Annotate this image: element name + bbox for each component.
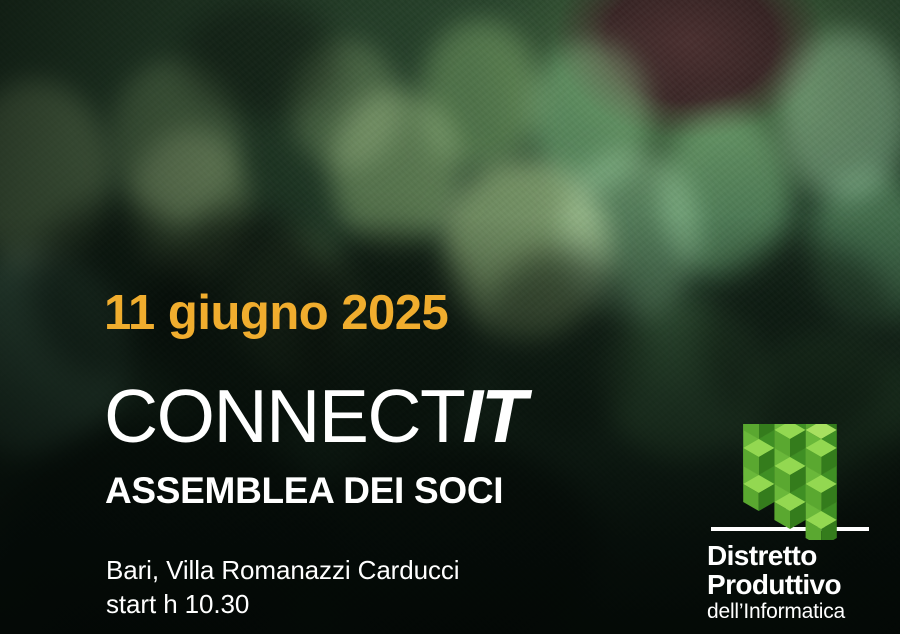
logo-wordmark: Distretto Produttivo dell’Informatica: [707, 542, 845, 623]
headline-it: IT: [462, 374, 525, 458]
event-poster: 11 giugno 2025 CONNECTIT ASSEMBLEA DEI S…: [0, 0, 900, 634]
organization-logo: Distretto Produttivo dell’Informatica: [697, 424, 883, 626]
venue-location: Bari, Villa Romanazzi Carducci: [106, 554, 459, 588]
headline-connect: CONNECT: [104, 374, 464, 458]
venue-info: Bari, Villa Romanazzi Carducci start h 1…: [106, 554, 459, 622]
subtitle: ASSEMBLEA DEI SOCI: [105, 472, 503, 509]
event-date: 11 giugno 2025: [104, 289, 448, 338]
event-start-time: start h 10.30: [106, 588, 459, 622]
logo-line-1: Distretto: [707, 542, 845, 571]
logo-line-2: Produttivo: [707, 571, 845, 600]
isometric-cube-tree-icon: [697, 424, 883, 540]
page-title: CONNECTIT: [104, 379, 525, 454]
poster-content: 11 giugno 2025 CONNECTIT ASSEMBLEA DEI S…: [0, 0, 900, 634]
logo-line-3: dell’Informatica: [707, 601, 845, 622]
